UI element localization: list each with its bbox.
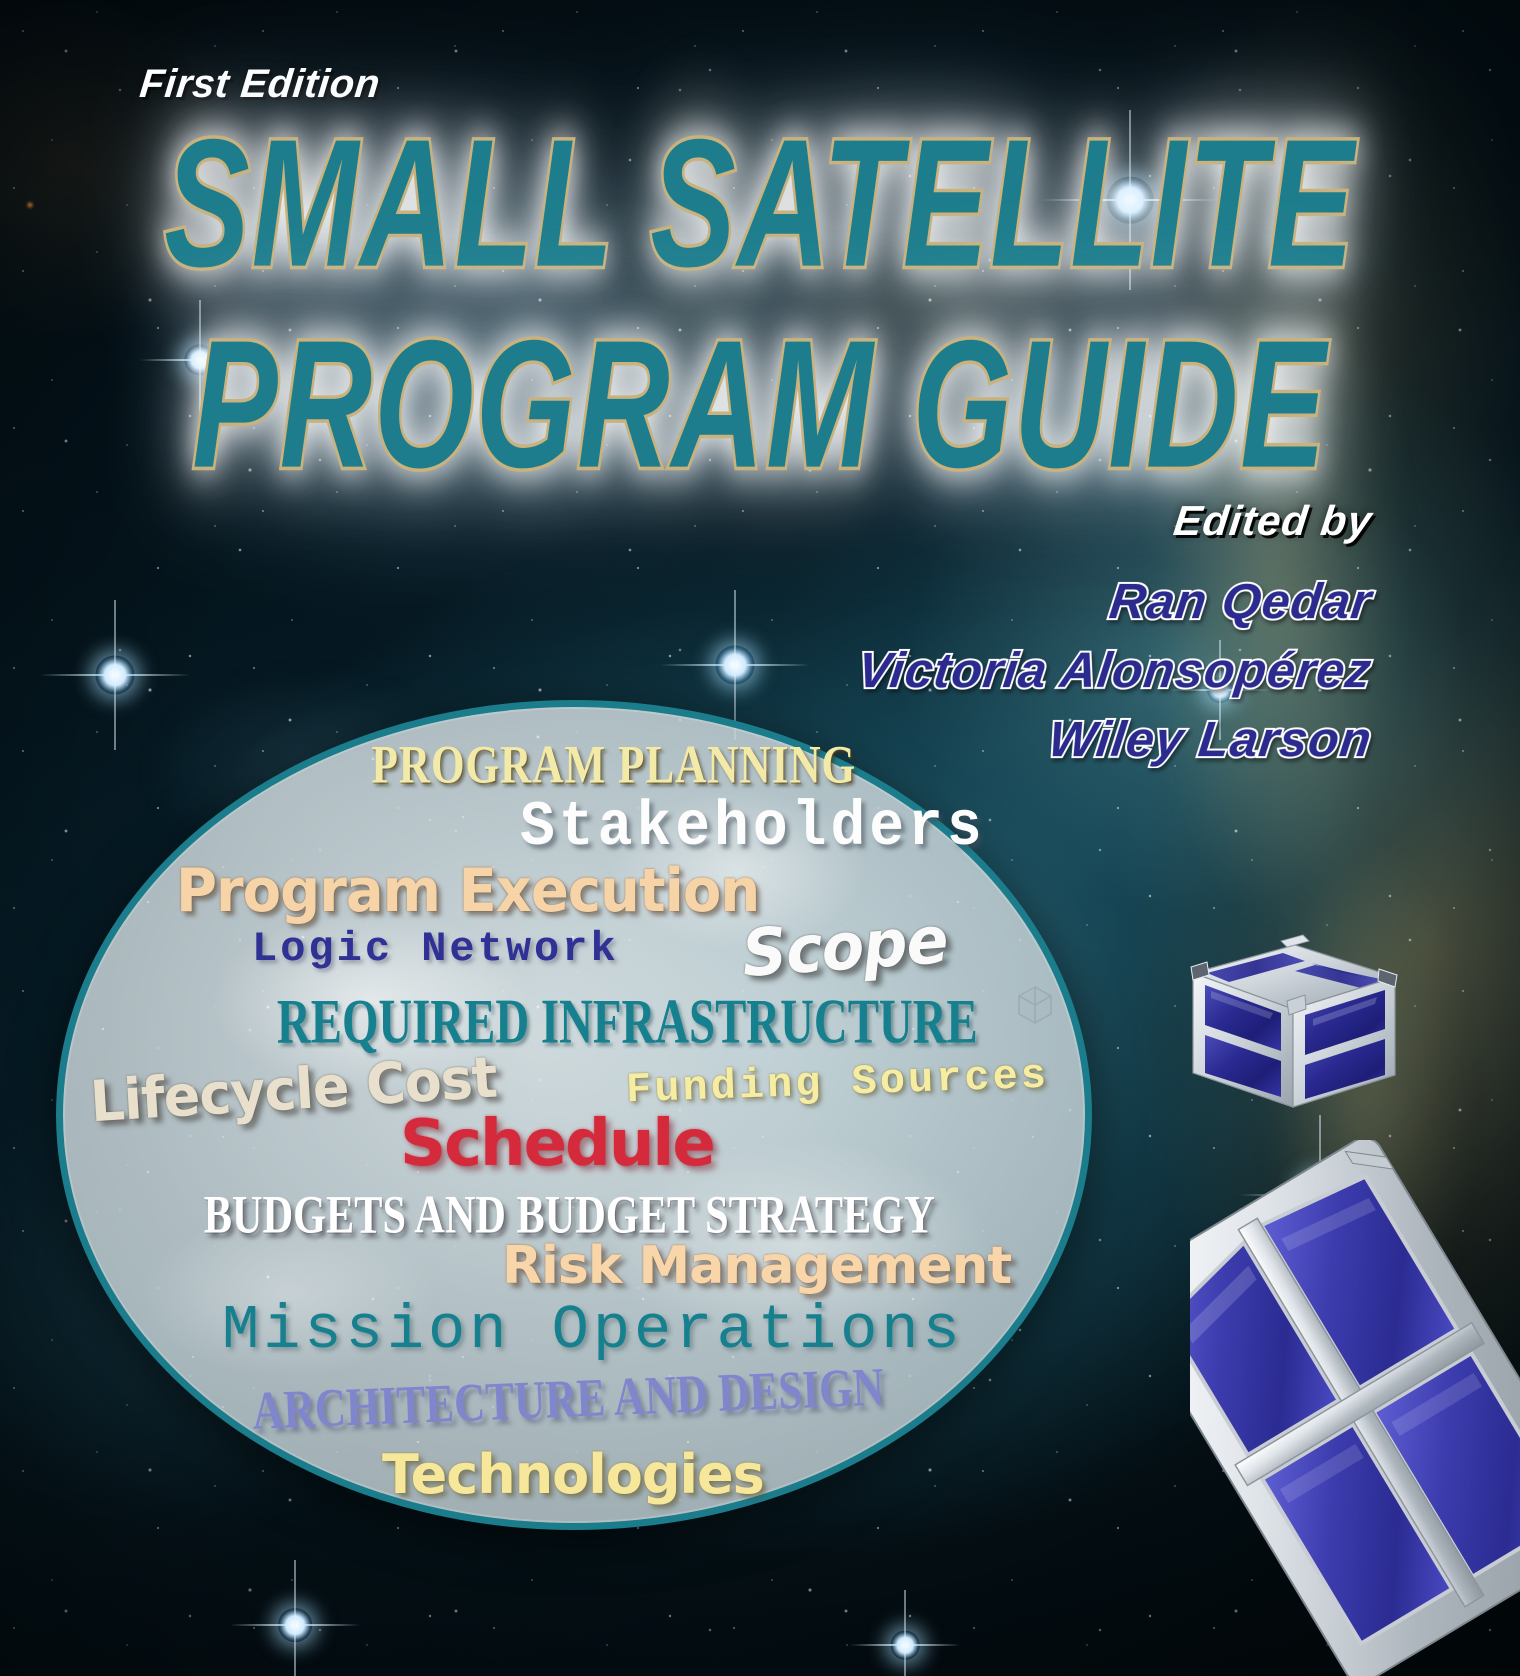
keyword-program-planning: PROGRAM PLANNING	[371, 738, 856, 792]
large-satellite-illustration	[1190, 1140, 1520, 1676]
keyword-stakeholders: Stakeholders	[520, 798, 986, 861]
editor-name: Victoria Alonsopérez	[855, 641, 1376, 699]
keyword-scope: Scope	[740, 907, 949, 986]
edited-by-label: Edited by	[1171, 497, 1375, 545]
keyword-schedule: Schedule	[400, 1112, 714, 1176]
cubesat-illustration	[1155, 885, 1405, 1115]
editor-name: Wiley Larson	[1046, 710, 1376, 768]
keyword-required-infrastructure: REQUIRED INFRASTRUCTURE	[277, 991, 978, 1054]
title-line-1: SMALL SATELLITE	[0, 118, 1520, 292]
editor-name: Ran Qedar	[1107, 572, 1376, 630]
book-title: SMALL SATELLITE PROGRAM GUIDE	[0, 118, 1520, 442]
keyword-program-execution: Program Execution	[176, 862, 759, 921]
keyword-risk-management: Risk Management	[502, 1240, 1011, 1292]
keyword-technologies: Technologies	[382, 1448, 764, 1502]
keyword-budgets-and-budget-strategy: BUDGETS AND BUDGET STRATEGY	[204, 1188, 935, 1242]
edition-label: First Edition	[138, 62, 383, 107]
book-cover: First Edition SMALL SATELLITE PROGRAM GU…	[0, 0, 1520, 1676]
keyword-logic-network: Logic Network	[252, 928, 619, 970]
mini-cube-icon	[1013, 983, 1057, 1027]
title-line-2: PROGRAM GUIDE	[0, 319, 1520, 493]
keyword-mission-operations: Mission Operations	[222, 1300, 964, 1362]
